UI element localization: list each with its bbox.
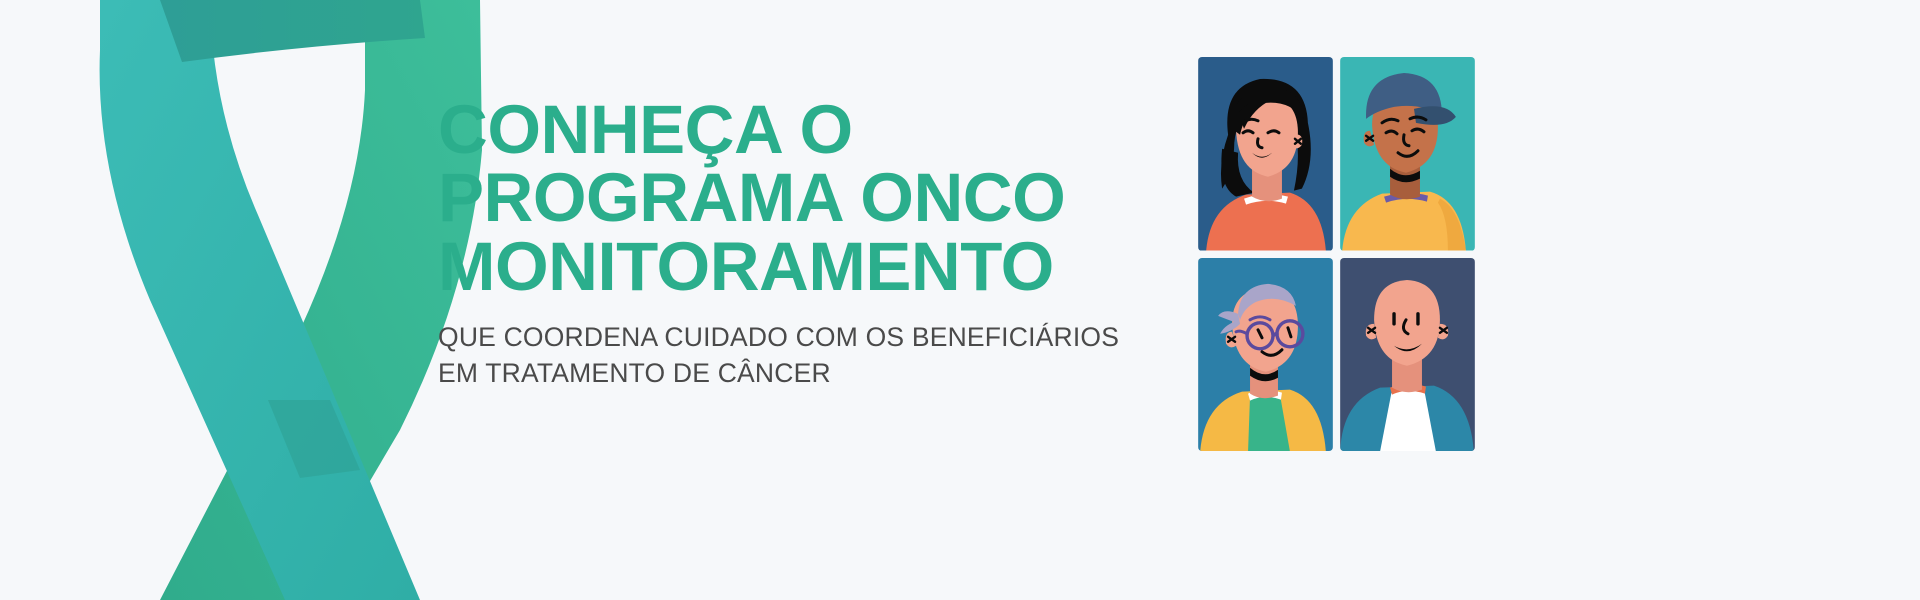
awareness-ribbon xyxy=(0,0,500,600)
headline-line-1: CONHEÇA O xyxy=(438,96,1158,164)
banner-text-block: CONHEÇA O PROGRAMA ONCO MONITORAMENTO QU… xyxy=(438,96,1158,392)
avatar-grid xyxy=(1198,57,1475,451)
onco-monitoring-banner: CONHEÇA O PROGRAMA ONCO MONITORAMENTO QU… xyxy=(0,0,1920,600)
headline-line-3: MONITORAMENTO xyxy=(438,233,1158,301)
page-title: CONHEÇA O PROGRAMA ONCO MONITORAMENTO xyxy=(438,96,1158,301)
avatar-man-cap xyxy=(1340,57,1475,251)
avatar-bald-person xyxy=(1340,258,1475,452)
subtitle-line-1: QUE COORDENA CUIDADO COM OS BENEFICIÁRIO… xyxy=(438,319,1158,356)
banner-subtitle: QUE COORDENA CUIDADO COM OS BENEFICIÁRIO… xyxy=(438,319,1158,392)
avatar-woman-long-hair xyxy=(1198,57,1333,251)
subtitle-line-2: EM TRATAMENTO DE CÂNCER xyxy=(438,355,1158,392)
headline-line-2: PROGRAMA ONCO xyxy=(438,164,1158,232)
avatar-person-headscarf-glasses xyxy=(1198,258,1333,452)
